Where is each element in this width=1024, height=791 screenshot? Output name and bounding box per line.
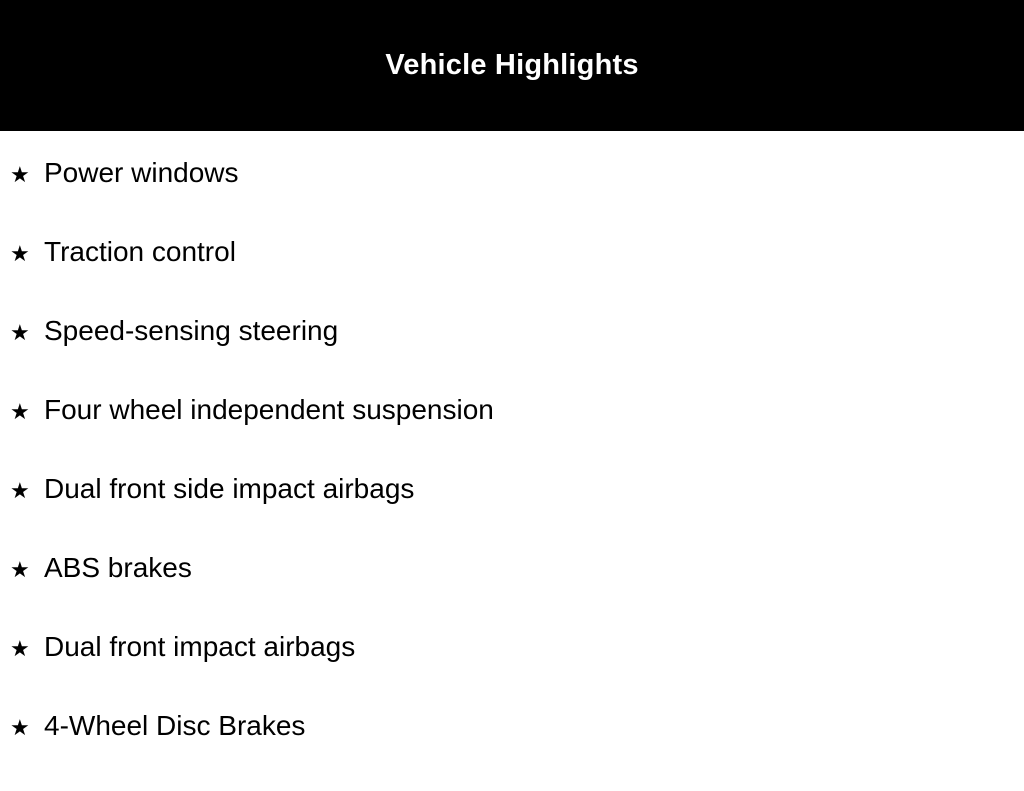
vehicle-highlights-list: ★ Power windows ★ Traction control ★ Spe… xyxy=(0,131,1024,791)
star-icon: ★ xyxy=(10,402,44,424)
list-item: ★ Four wheel independent suspension xyxy=(0,396,1024,475)
list-item-label: Speed-sensing steering xyxy=(44,317,338,345)
star-icon: ★ xyxy=(10,718,44,740)
star-icon: ★ xyxy=(10,560,44,582)
list-item: ★ ABS brakes xyxy=(0,554,1024,633)
page-title: Vehicle Highlights xyxy=(385,51,638,80)
list-item-label: Dual front side impact airbags xyxy=(44,475,414,503)
list-item-label: Power windows xyxy=(44,159,239,187)
vehicle-highlights-page: Vehicle Highlights ★ Power windows ★ Tra… xyxy=(0,0,1024,768)
list-item-label: Four wheel independent suspension xyxy=(44,396,494,424)
list-item: ★ Dual front side impact airbags xyxy=(0,475,1024,554)
page-header: Vehicle Highlights xyxy=(0,0,1024,131)
list-item: ★ Speed-sensing steering xyxy=(0,317,1024,396)
star-icon: ★ xyxy=(10,323,44,345)
list-item-label: Traction control xyxy=(44,238,236,266)
list-item: ★ Dual front impact airbags xyxy=(0,633,1024,712)
list-item-label: Dual front impact airbags xyxy=(44,633,355,661)
star-icon: ★ xyxy=(10,165,44,187)
list-item: ★ Power windows xyxy=(0,131,1024,238)
star-icon: ★ xyxy=(10,244,44,266)
star-icon: ★ xyxy=(10,639,44,661)
star-icon: ★ xyxy=(10,481,44,503)
list-item: ★ Traction control xyxy=(0,238,1024,317)
list-item: ★ 4-Wheel Disc Brakes xyxy=(0,712,1024,791)
list-item-label: 4-Wheel Disc Brakes xyxy=(44,712,305,740)
list-item-label: ABS brakes xyxy=(44,554,192,582)
